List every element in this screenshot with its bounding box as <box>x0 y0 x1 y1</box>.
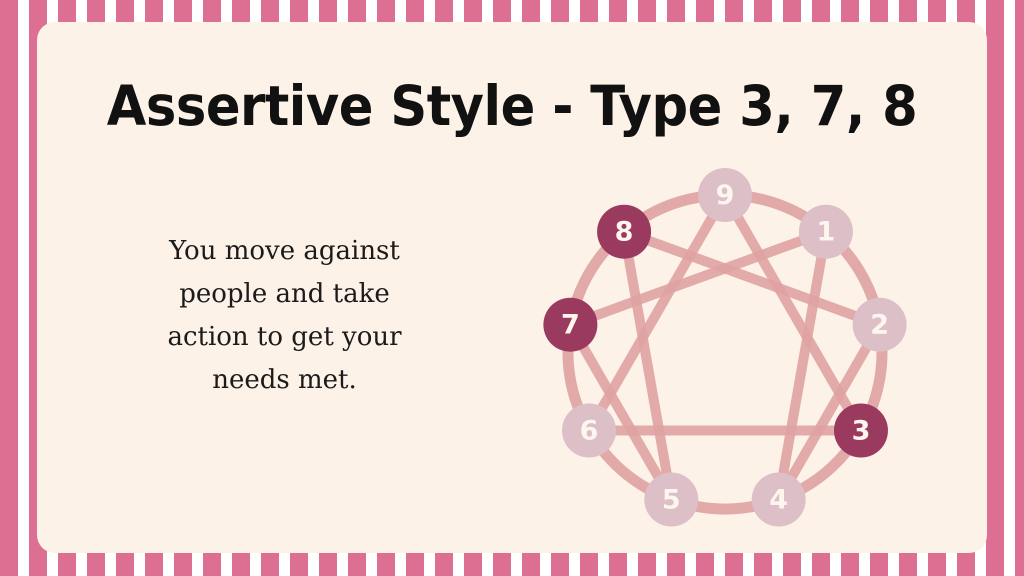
enneagram-node-2[interactable]: 2 <box>853 298 907 352</box>
enneagram-svg: 912345678 <box>517 142 947 542</box>
slide-canvas: Assertive Style - Type 3, 7, 8 You move … <box>0 0 1024 576</box>
enneagram-node-9[interactable]: 9 <box>698 168 752 222</box>
enneagram-node-6[interactable]: 6 <box>562 404 616 458</box>
node-number-6: 6 <box>580 416 599 447</box>
description-text: You move against people and take action … <box>137 230 432 402</box>
node-number-2: 2 <box>870 310 889 341</box>
node-number-1: 1 <box>817 217 836 248</box>
page-title: Assertive Style - Type 3, 7, 8 <box>70 75 954 137</box>
node-number-4: 4 <box>769 485 788 516</box>
enneagram-node-3[interactable]: 3 <box>834 404 888 458</box>
node-number-3: 3 <box>852 416 871 447</box>
enneagram-node-8[interactable]: 8 <box>597 205 651 259</box>
content-card: Assertive Style - Type 3, 7, 8 You move … <box>37 22 987 553</box>
node-number-7: 7 <box>561 310 580 341</box>
node-number-9: 9 <box>716 180 735 211</box>
enneagram-node-4[interactable]: 4 <box>752 473 806 527</box>
enneagram-node-7[interactable]: 7 <box>543 298 597 352</box>
enneagram-node-5[interactable]: 5 <box>644 473 698 527</box>
enneagram-nodes: 912345678 <box>543 168 906 527</box>
enneagram-node-1[interactable]: 1 <box>799 205 853 259</box>
node-number-5: 5 <box>662 485 681 516</box>
enneagram-diagram: 912345678 <box>517 142 947 542</box>
node-number-8: 8 <box>615 217 634 248</box>
